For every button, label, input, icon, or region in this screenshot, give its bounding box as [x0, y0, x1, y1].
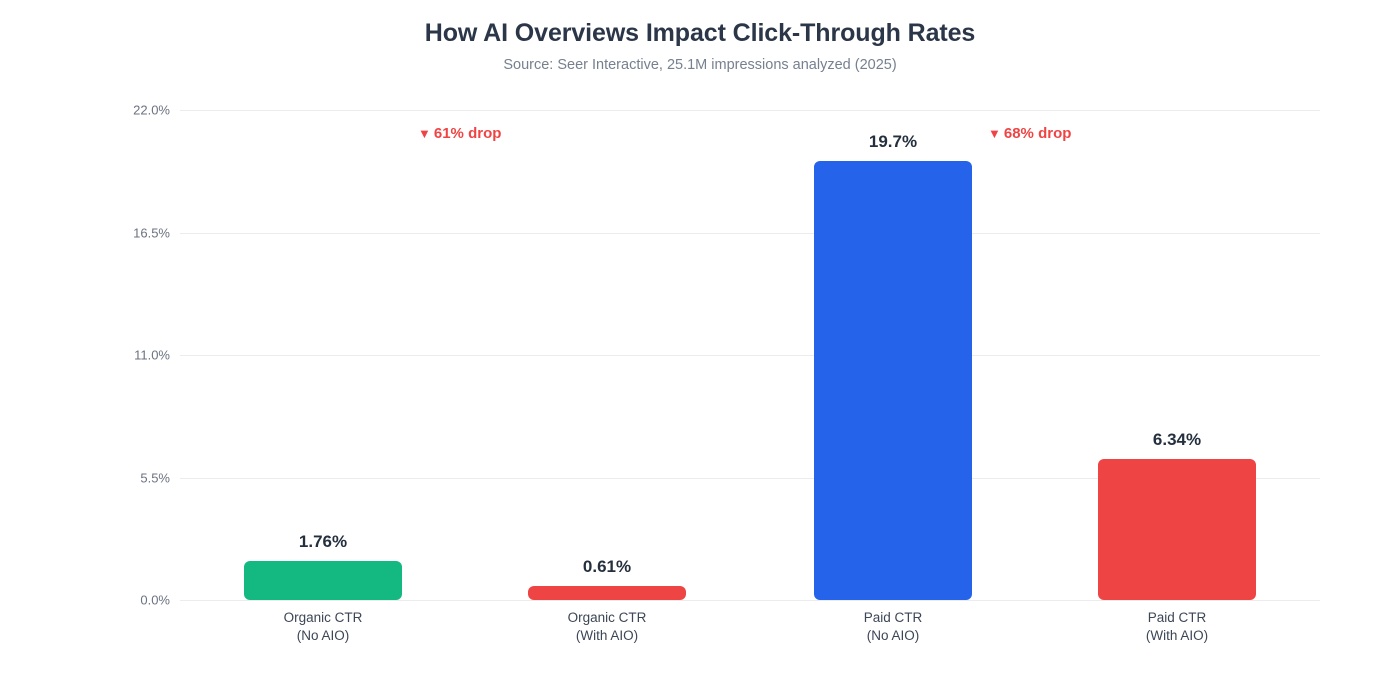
bar-organic-ctr-with-aio[interactable] [528, 586, 686, 600]
annotation-drop-paid: ▼68% drop [988, 125, 1071, 142]
y-axis-tick-3: 16.5% [110, 225, 170, 240]
bar-paid-ctr-with-aio[interactable] [1098, 459, 1256, 600]
x-axis-label-line2: (With AIO) [1098, 627, 1256, 645]
chart-subtitle: Source: Seer Interactive, 25.1M impressi… [0, 57, 1400, 73]
x-axis-label-organic-ctr-with-aio: Organic CTR (With AIO) [528, 609, 686, 645]
annotation-drop-organic: ▼61% drop [418, 125, 501, 142]
y-axis-tick-2: 11.0% [110, 348, 170, 363]
bar-value-paid-ctr-no-aio: 19.7% [814, 132, 972, 152]
x-axis-label-line1: Paid CTR [1098, 609, 1256, 627]
y-axis-tick-1: 5.5% [110, 470, 170, 485]
annotation-drop-paid-text: 68% drop [1004, 125, 1072, 142]
bar-paid-ctr-no-aio[interactable] [814, 161, 972, 600]
plot-area: 1.76% 0.61% 19.7% 6.34% ▼61% drop ▼68% d… [180, 110, 1320, 600]
x-axis-label-line1: Paid CTR [814, 609, 972, 627]
x-axis-label-line1: Organic CTR [244, 609, 402, 627]
annotation-drop-organic-text: 61% drop [434, 125, 502, 142]
gridline-2 [180, 355, 1320, 356]
x-axis-label-organic-ctr-no-aio: Organic CTR (No AIO) [244, 609, 402, 645]
bar-organic-ctr-no-aio[interactable] [244, 561, 402, 600]
gridline-4 [180, 110, 1320, 111]
gridline-3 [180, 233, 1320, 234]
gridline-0 [180, 600, 1320, 601]
down-triangle-icon: ▼ [418, 126, 431, 141]
x-axis-label-line2: (No AIO) [244, 627, 402, 645]
x-axis-label-line2: (No AIO) [814, 627, 972, 645]
bar-value-organic-ctr-with-aio: 0.61% [528, 557, 686, 577]
x-axis-label-line1: Organic CTR [528, 609, 686, 627]
x-axis-label-paid-ctr-no-aio: Paid CTR (No AIO) [814, 609, 972, 645]
x-axis-label-line2: (With AIO) [528, 627, 686, 645]
bar-value-paid-ctr-with-aio: 6.34% [1098, 430, 1256, 450]
chart-container: How AI Overviews Impact Click-Through Ra… [0, 0, 1400, 700]
y-axis-tick-4: 22.0% [110, 103, 170, 118]
down-triangle-icon: ▼ [988, 126, 1001, 141]
bar-value-organic-ctr-no-aio: 1.76% [244, 532, 402, 552]
y-axis-tick-0: 0.0% [110, 593, 170, 608]
x-axis-label-paid-ctr-with-aio: Paid CTR (With AIO) [1098, 609, 1256, 645]
chart-title: How AI Overviews Impact Click-Through Ra… [0, 19, 1400, 48]
